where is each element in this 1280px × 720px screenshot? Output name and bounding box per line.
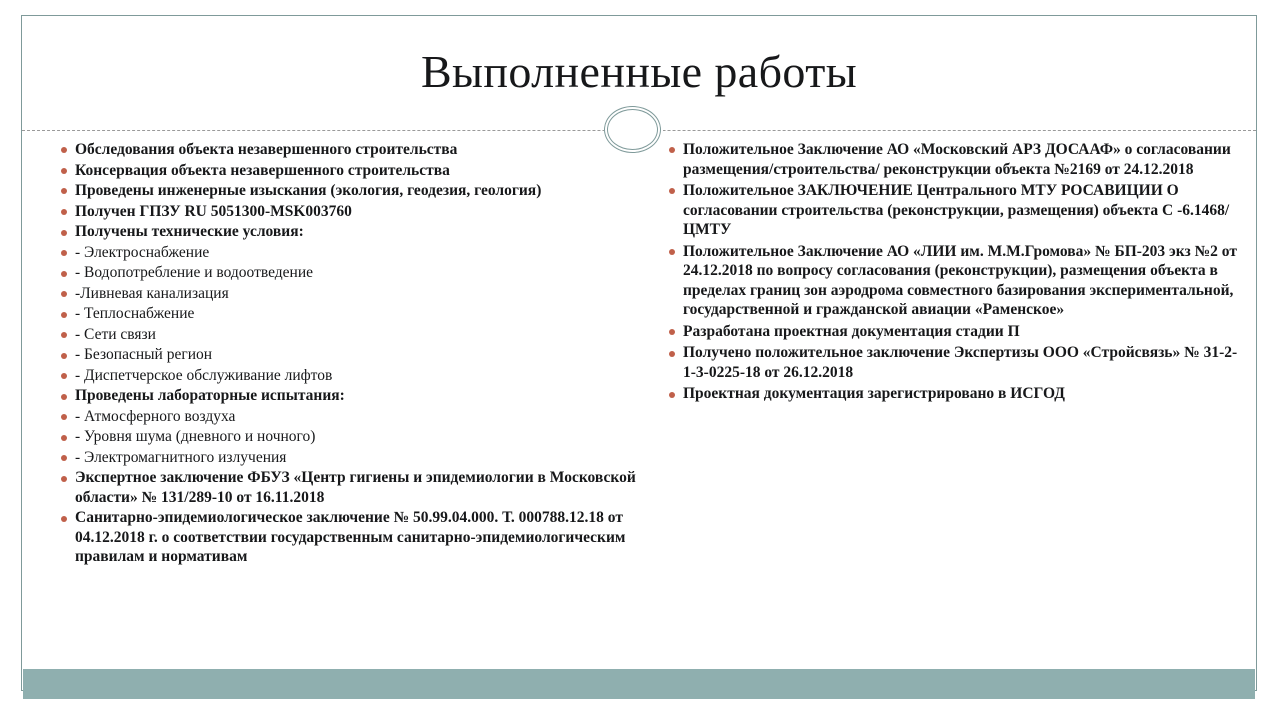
list-item: Проведены лабораторные испытания:: [37, 386, 637, 406]
list-item: - Уровня шума (дневного и ночного): [37, 427, 637, 447]
left-content-column: Обследования объекта незавершенного стро…: [37, 140, 637, 568]
list-item: Получен ГПЗУ RU 5051300-MSK003760: [37, 202, 637, 222]
left-bullet-list: Обследования объекта незавершенного стро…: [37, 140, 637, 567]
list-item: - Теплоснабжение: [37, 304, 637, 324]
list-item: Получено положительное заключение Экспер…: [643, 343, 1243, 382]
list-item: Проектная документация зарегистрировано …: [643, 384, 1243, 404]
ring-inner-circle: [607, 109, 658, 150]
list-item: - Сети связи: [37, 325, 637, 345]
list-item: -Ливневая канализация: [37, 284, 637, 304]
list-item: Положительное ЗАКЛЮЧЕНИЕ Центрального МТ…: [643, 181, 1243, 240]
bottom-accent-bar: [23, 669, 1255, 699]
list-item: Обследования объекта незавершенного стро…: [37, 140, 637, 160]
list-item: - Безопасный регион: [37, 345, 637, 365]
list-item: - Атмосферного воздуха: [37, 407, 637, 427]
list-item: Получены технические условия:: [37, 222, 637, 242]
list-item: Положительное Заключение АО «ЛИИ им. М.М…: [643, 242, 1243, 320]
content-columns: Обследования объекта незавершенного стро…: [21, 140, 1257, 660]
list-item: Разработана проектная документация стади…: [643, 322, 1243, 342]
list-item: Консервация объекта незавершенного строи…: [37, 161, 637, 181]
list-item: - Водопотребление и водоотведение: [37, 263, 637, 283]
presentation-slide: Выполненные работы Обследования объекта …: [0, 0, 1280, 720]
title-area: Выполненные работы: [21, 26, 1257, 118]
right-content-column: Положительное Заключение АО «Московский …: [643, 140, 1243, 406]
page-title: Выполненные работы: [421, 47, 857, 98]
double-ring-ornament-icon: [604, 106, 663, 155]
right-bullet-list: Положительное Заключение АО «Московский …: [643, 140, 1243, 404]
list-item: - Электроснабжение: [37, 243, 637, 263]
list-item: Санитарно-эпидемиологическое заключение …: [37, 508, 637, 567]
list-item: - Диспетчерское обслуживание лифтов: [37, 366, 637, 386]
list-item: Экспертное заключение ФБУЗ «Центр гигиен…: [37, 468, 637, 507]
list-item: Положительное Заключение АО «Московский …: [643, 140, 1243, 179]
list-item: Проведены инженерные изыскания (экология…: [37, 181, 637, 201]
list-item: - Электромагнитного излучения: [37, 448, 637, 468]
